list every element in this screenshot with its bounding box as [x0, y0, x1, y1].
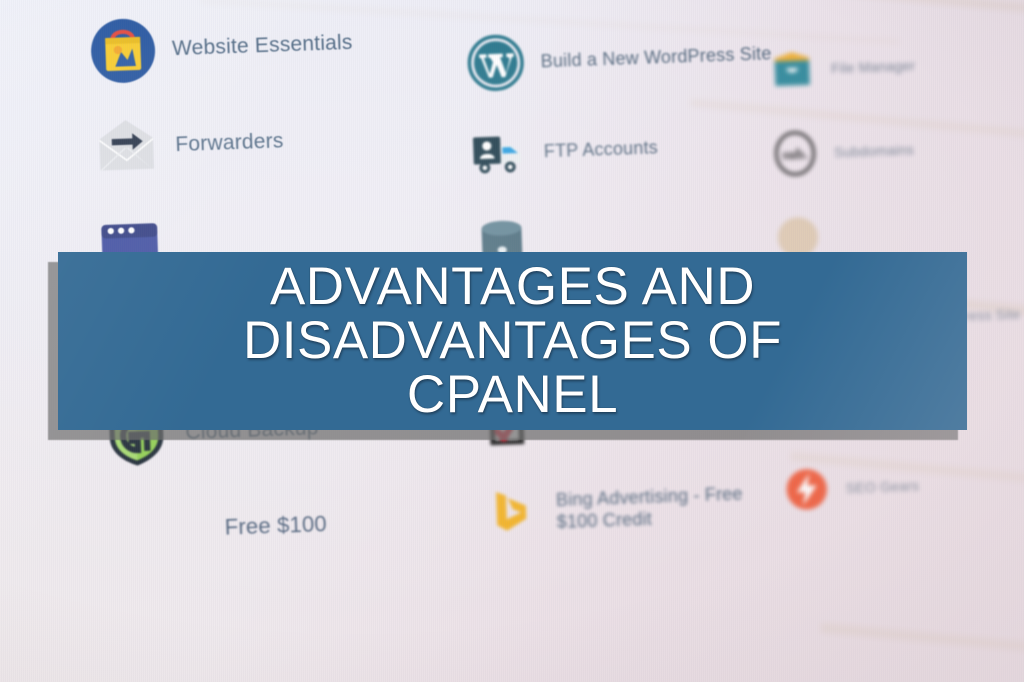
cpanel-item-label: FTP Accounts: [543, 137, 658, 162]
cpanel-item-label: Forwarders: [175, 129, 284, 157]
cpanel-item-bing-advertising[interactable]: Bing Advertising - Free $100 Credit: [481, 458, 784, 558]
cpanel-item-subdomains[interactable]: sub. Subdomains: [771, 103, 1024, 196]
cpanel-item-build-wordpress-site[interactable]: Build a New WordPress Site: [465, 8, 768, 108]
svg-text:sub.: sub.: [782, 147, 808, 164]
seo-bolt-icon: [783, 466, 831, 514]
subdomain-circle-icon: sub.: [771, 130, 819, 178]
cpanel-item-ftp-accounts[interactable]: FTP Accounts: [468, 98, 771, 198]
cpanel-item-label: Subdomains: [834, 141, 914, 160]
cpanel-item-label: Build a New WordPress Site: [540, 43, 772, 72]
cpanel-item-label: Bing Advertising - Free $100 Credit: [556, 481, 783, 534]
page-title: ADVANTAGES AND DISADVANTAGES OF CPANEL: [223, 260, 802, 422]
title-banner: ADVANTAGES AND DISADVANTAGES OF CPANEL: [58, 252, 967, 430]
ftp-truck-icon: [469, 123, 529, 183]
screenshot-root: Website Essentials Forwarders: [0, 0, 1024, 682]
cpanel-item-website-essentials[interactable]: Website Essentials: [88, 0, 421, 100]
file-manager-box-icon: [768, 46, 816, 94]
cpanel-item-forwarders[interactable]: Forwarders: [92, 89, 425, 196]
cpanel-item-seo-gears[interactable]: SEO Gears: [782, 439, 1024, 532]
cpanel-item-label: Free $100: [224, 511, 327, 541]
cpanel-item-label: File Manager: [831, 57, 916, 76]
cpanel-item-label: Website Essentials: [172, 31, 353, 61]
cpanel-item-ads-credit[interactable]: Free $100: [105, 472, 438, 579]
wordpress-icon: [466, 33, 526, 93]
mail-forward-icon: [92, 113, 160, 181]
cpanel-item-file-manager[interactable]: File Manager: [768, 19, 1024, 112]
bing-icon: [481, 483, 541, 543]
shopping-bag-icon: [89, 17, 157, 85]
cpanel-item-label: SEO Gears: [845, 477, 919, 496]
